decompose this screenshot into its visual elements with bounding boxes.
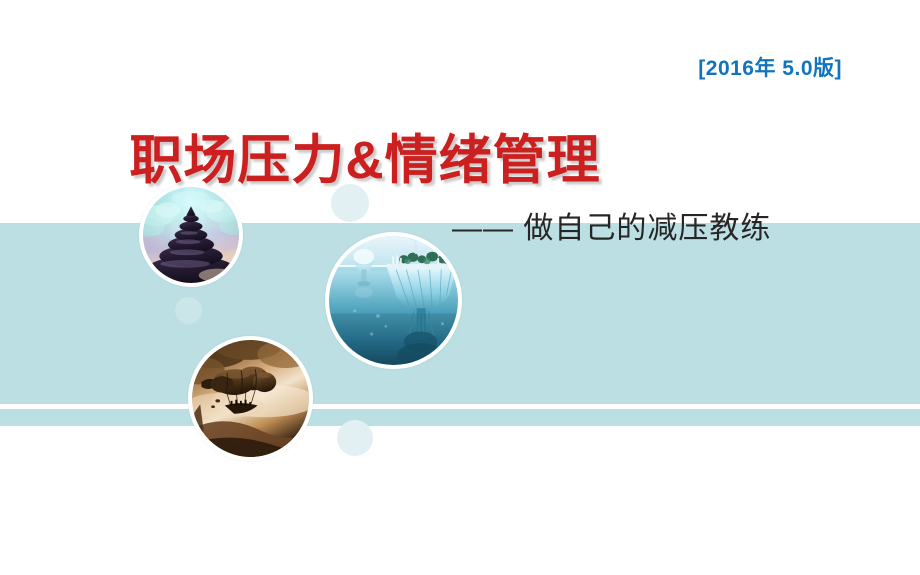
page-subtitle: —— 做自己的减压教练 <box>452 203 771 247</box>
background-band-thin <box>0 409 920 426</box>
sepia-airship-artwork <box>192 340 309 457</box>
version-badge: [2016年 5.0版] <box>698 52 842 82</box>
decorative-bubble-lower <box>337 420 373 456</box>
underwater-island-artwork <box>329 236 458 365</box>
image-sepia-airship <box>188 336 313 461</box>
image-zen-stones <box>139 183 243 287</box>
decorative-bubble-middle <box>175 297 202 324</box>
page-title: 职场压力&情绪管理 <box>0 118 920 194</box>
zen-stones-artwork <box>143 187 239 283</box>
slide-canvas: [2016年 5.0版] 职场压力&情绪管理 —— 做自己的减压教练 <box>0 0 920 575</box>
image-underwater-island <box>325 232 462 369</box>
